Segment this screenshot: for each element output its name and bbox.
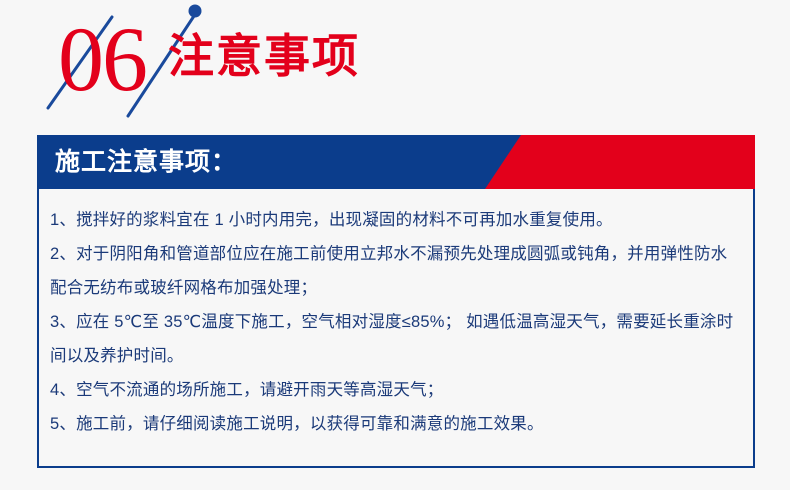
note-item-3: 3、应在 5℃至 35℃温度下施工，空气相对湿度≤85%； 如遇低温高湿天气，需… (50, 305, 738, 373)
note-item-4: 4、空气不流通的场所施工，请避开雨天等高湿天气； (50, 373, 744, 407)
section-heading: 06 注意事项 (0, 0, 790, 122)
heading-number: 06 (58, 13, 146, 105)
note-item-5: 5、施工前，请仔细阅读施工说明，以获得可靠和满意的施工效果。 (50, 407, 744, 441)
notes-list: 1、搅拌好的浆料宜在 1 小时内用完，出现凝固的材料不可再加水重复使用。 2、对… (50, 203, 744, 458)
notes-card-title: 施工注意事项： (55, 135, 237, 189)
blue-dot-icon (189, 5, 202, 18)
note-item-1: 1、搅拌好的浆料宜在 1 小时内用完，出现凝固的材料不可再加水重复使用。 (50, 203, 744, 237)
page-root: 06 注意事项 施工注意事项： 1、搅拌好的浆料宜在 1 小时内用完，出现凝固的… (0, 0, 790, 490)
header-red-accent (485, 135, 755, 189)
notes-card-header: 施工注意事项： (37, 135, 755, 189)
heading-title: 注意事项 (168, 28, 360, 84)
note-item-2: 2、对于阴阳角和管道部位应在施工前使用立邦水不漏预先处理成圆弧或钝角，并用弹性防… (50, 237, 738, 305)
